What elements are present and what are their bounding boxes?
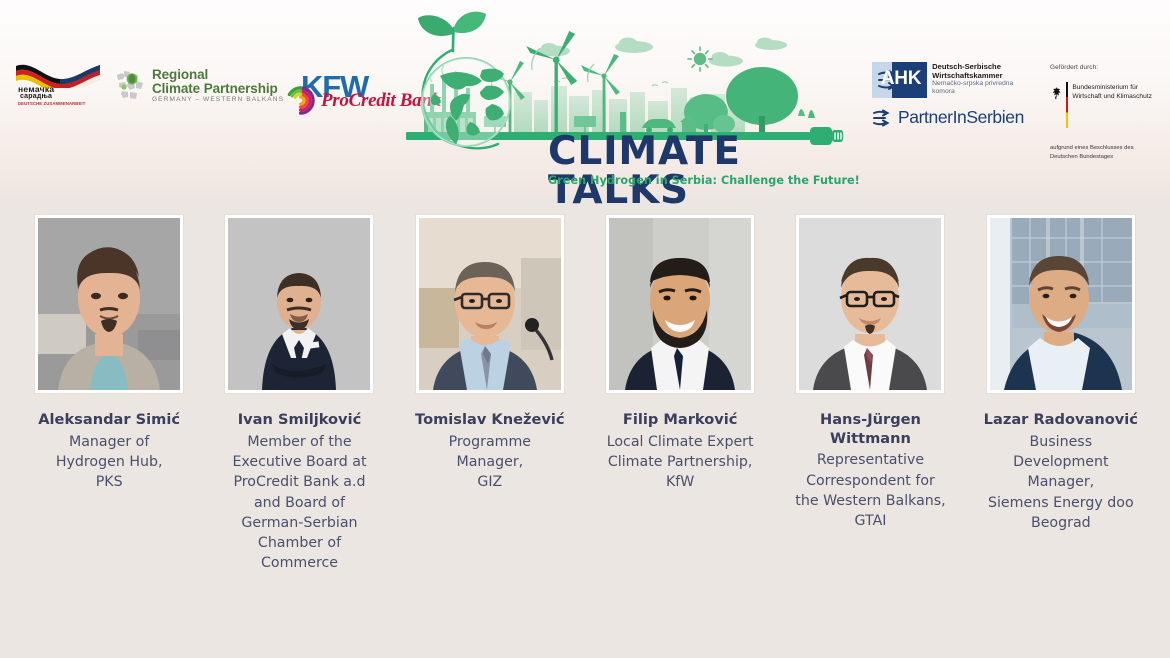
speaker-name: Aleksandar Simić: [38, 411, 180, 430]
speakers-grid: Aleksandar Simić Manager of Hydrogen Hub…: [0, 215, 1170, 574]
speaker-card: Tomislav Knežević Programme Manager, GIZ: [395, 215, 585, 574]
cloud-icon: [538, 38, 787, 67]
partnerinserbien-text: PartnerInSerbien: [898, 107, 1024, 128]
ahk-letters: AHK: [881, 68, 921, 91]
speaker-role: Business Development Manager, Siemens En…: [988, 432, 1134, 533]
speaker-card: Filip Marković Local Climate Expert Clim…: [585, 215, 775, 574]
speaker-card: Aleksandar Simić Manager of Hydrogen Hub…: [14, 215, 204, 574]
speaker-photo-hans-juergen-wittmann: [799, 218, 941, 390]
speaker-role: Manager of Hydrogen Hub, PKS: [56, 432, 163, 493]
speaker-photo-ivan-smiljkovic: [228, 218, 370, 390]
ahk-badge: AHK: [872, 62, 927, 98]
speaker-photo-aleksandar-simic: [38, 218, 180, 390]
bmwk-ministry: Bundesministerium für Wirtschaft und Kli…: [1072, 83, 1162, 102]
bmwk-logo: Gefördert durch: Bundesministerium für W…: [1050, 64, 1162, 161]
rcp-line3: GERMANY – WESTERN BALKANS: [152, 97, 284, 104]
speaker-photo-filip-markovic: [609, 218, 751, 390]
speaker-role: Representative Correspondent for the Wes…: [795, 450, 945, 531]
speaker-name: Tomislav Knežević: [415, 411, 565, 430]
speaker-photo-tomislav-knezevic: [419, 218, 561, 390]
header-logo-band: немачка сарадња DEUTSCHE ZUSAMMENARBEIT: [0, 0, 1170, 196]
bundesadler-icon: [1050, 82, 1062, 104]
speaker-card: Ivan Smiljković Member of the Executive …: [204, 215, 394, 574]
rcp-line2: Climate Partnership: [152, 82, 284, 96]
bmwk-heading: Gefördert durch:: [1050, 64, 1162, 71]
tree-icon: [684, 67, 815, 136]
event-title: CLIMATE TALKS: [548, 132, 866, 210]
german-cooperation-logo: немачка сарадња DEUTSCHE ZUSAMMENARBEIT: [14, 60, 102, 112]
avatar: [225, 215, 373, 393]
speaker-name: Filip Marković: [623, 411, 738, 430]
speaker-role: Local Climate Expert Climate Partnership…: [607, 432, 754, 493]
speaker-name: Ivan Smiljković: [238, 411, 362, 430]
regional-climate-partnership-logo: Regional Climate Partnership GERMANY – W…: [111, 66, 284, 106]
ahk-desc-de: Deutsch-Serbische Wirtschaftskammer: [932, 63, 1032, 80]
bmwk-footer: aufgrund eines Beschlusses des Deutschen…: [1050, 144, 1162, 161]
avatar: [606, 215, 754, 393]
speaker-name: Hans-Jürgen Wittmann: [790, 411, 950, 448]
climate-talks-logo: CLIMATE TALKS Green Hydrogen in Serbia: …: [406, 4, 866, 194]
ahk-desc-rs: Nemačko-srpska privredna komora: [932, 80, 1032, 95]
rcp-line1: Regional: [152, 68, 284, 82]
speaker-role: Member of the Executive Board at ProCred…: [232, 432, 366, 574]
partnerinserbien-arrows-icon: [872, 109, 894, 127]
ahk-logo: AHK Deutsch-Serbische Wirtschaftskammer …: [872, 62, 1032, 128]
procredit-spiral-icon: [286, 86, 315, 115]
speaker-card: Hans-Jürgen Wittmann Representative Corr…: [775, 215, 965, 574]
globe-sprout-icon: [418, 12, 510, 149]
speaker-card: Lazar Radovanović Business Development M…: [966, 215, 1156, 574]
avatar: [987, 215, 1135, 393]
speaker-photo-lazar-radovanovic: [990, 218, 1132, 390]
german-flag-bar-icon: [1066, 82, 1069, 128]
avatar: [796, 215, 944, 393]
avatar: [416, 215, 564, 393]
event-speakers-banner: немачка сарадња DEUTSCHE ZUSAMMENARBEIT: [0, 0, 1170, 658]
speaker-name: Lazar Radovanović: [984, 411, 1138, 430]
sun-icon: [688, 47, 712, 71]
avatar: [35, 215, 183, 393]
event-tagline: Green Hydrogen in Serbia: Challenge the …: [548, 174, 860, 187]
german-coop-line2: сарадња: [20, 93, 52, 100]
speaker-role: Programme Manager, GIZ: [449, 432, 531, 493]
europe-map-icon: [111, 66, 149, 106]
german-coop-line3: DEUTSCHE ZUSAMMENARBEIT: [18, 101, 85, 106]
